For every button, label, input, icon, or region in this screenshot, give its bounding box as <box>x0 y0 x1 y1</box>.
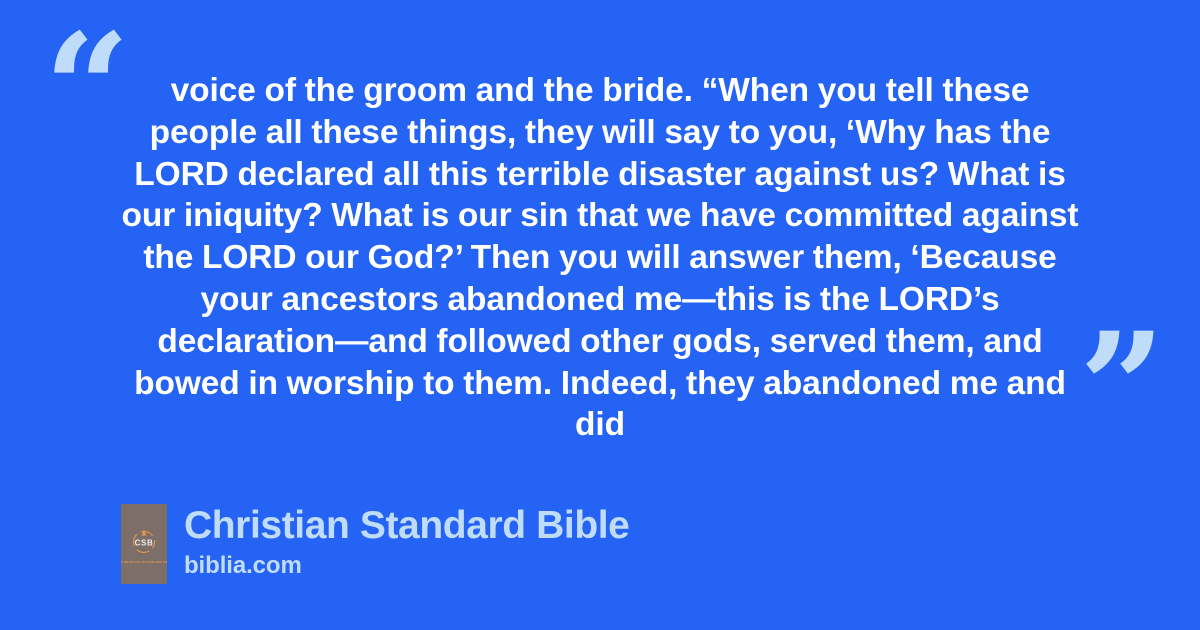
source-url[interactable]: biblia.com <box>184 552 629 580</box>
book-cover-subtitle: CHRISTIAN STANDARD BIBLE <box>121 560 167 564</box>
source-title: Christian Standard Bible <box>184 504 629 548</box>
book-cover-thumbnail: CSB CHRISTIAN STANDARD BIBLE <box>121 504 167 584</box>
quote-block: voice of the groom and the bride. “When … <box>118 70 1082 446</box>
quote-share-card: “ voice of the groom and the bride. “Whe… <box>0 0 1200 630</box>
csb-emblem-icon: CSB <box>129 526 159 556</box>
quote-text: voice of the groom and the bride. “When … <box>118 70 1082 446</box>
close-quote-icon: ” <box>1079 313 1163 463</box>
footer-text-group: Christian Standard Bible biblia.com <box>184 504 629 580</box>
open-quote-icon: “ <box>44 14 128 164</box>
svg-text:CSB: CSB <box>135 539 154 548</box>
footer-attribution: CSB CHRISTIAN STANDARD BIBLE Christian S… <box>121 504 629 584</box>
